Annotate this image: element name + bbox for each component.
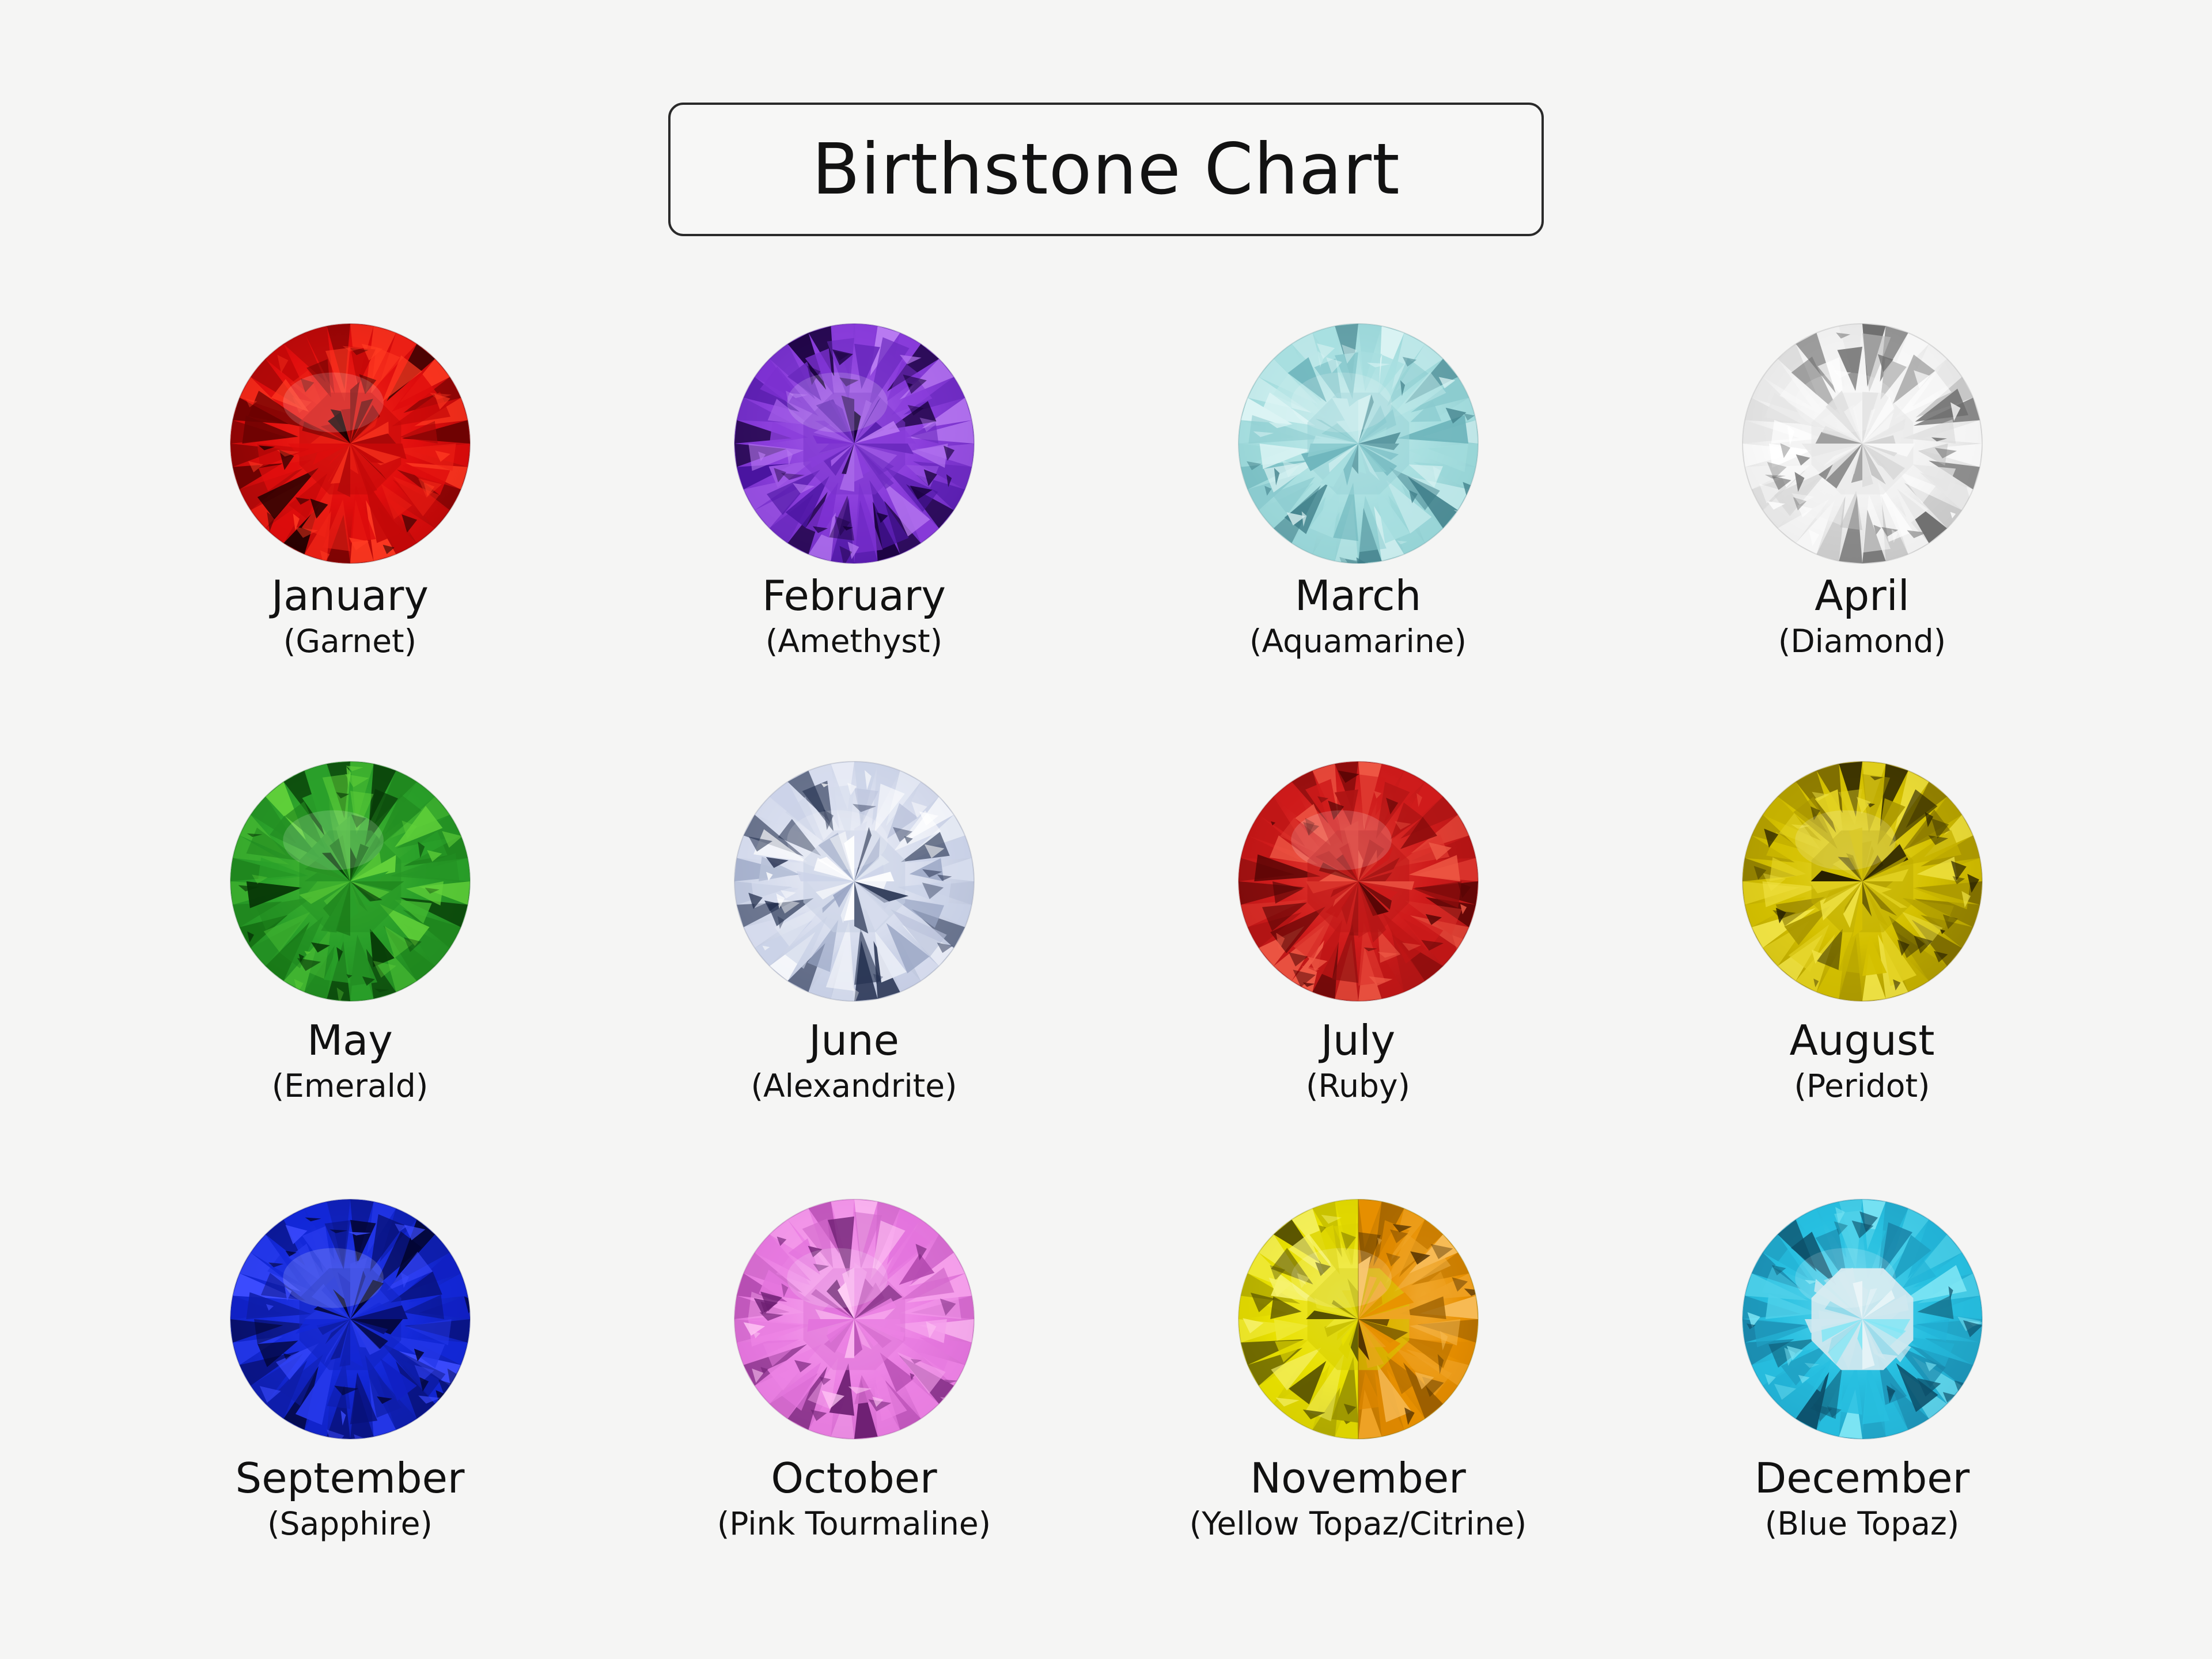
stone-label-yellow-topaz-citrine: (Yellow Topaz/Citrine) [1190, 1508, 1527, 1540]
gemstone-blue-topaz-icon [1741, 1198, 1983, 1440]
month-label-november: November [1250, 1457, 1466, 1499]
birthstone-grid: January(Garnet) February(Amethyst) March… [98, 323, 2114, 1636]
birthstone-cell-september[interactable]: September(Sapphire) [98, 1198, 602, 1636]
month-label-april: April [1815, 575, 1910, 617]
gemstone-amethyst-icon [733, 323, 975, 565]
gemstone-pink-tourmaline-icon [733, 1198, 975, 1440]
gemstone-ruby-icon [1237, 760, 1479, 1002]
month-label-september: September [236, 1457, 465, 1499]
title-box: Birthstone Chart [668, 103, 1544, 236]
birthstone-cell-june[interactable]: June(Alexandrite) [602, 760, 1106, 1198]
month-label-may: May [307, 1020, 393, 1062]
birthstone-cell-october[interactable]: October(Pink Tourmaline) [602, 1198, 1106, 1636]
stone-label-amethyst: (Amethyst) [766, 625, 942, 657]
month-label-october: October [771, 1457, 937, 1499]
birthstone-cell-july[interactable]: July(Ruby) [1106, 760, 1610, 1198]
month-label-july: July [1321, 1020, 1395, 1062]
gemstone-alexandrite-icon [733, 760, 975, 1002]
birthstone-cell-february[interactable]: February(Amethyst) [602, 323, 1106, 760]
gemstone-yellow-topaz-citrine-icon [1237, 1198, 1479, 1440]
stone-label-diamond: (Diamond) [1778, 625, 1946, 657]
month-label-january: January [271, 575, 429, 617]
month-label-march: March [1295, 575, 1421, 617]
birthstone-cell-april[interactable]: April(Diamond) [1610, 323, 2114, 760]
gemstone-garnet-icon [229, 323, 471, 565]
gemstone-aquamarine-icon [1237, 323, 1479, 565]
gemstone-peridot-icon [1741, 760, 1983, 1002]
birthstone-cell-november[interactable]: November(Yellow Topaz/Citrine) [1106, 1198, 1610, 1636]
month-label-june: June [809, 1020, 899, 1062]
gemstone-sapphire-icon [229, 1198, 471, 1440]
stone-label-aquamarine: (Aquamarine) [1249, 625, 1467, 657]
birthstone-cell-march[interactable]: March(Aquamarine) [1106, 323, 1610, 760]
stone-label-ruby: (Ruby) [1306, 1070, 1410, 1102]
month-label-august: August [1790, 1020, 1935, 1062]
stone-label-blue-topaz: (Blue Topaz) [1765, 1508, 1960, 1540]
birthstone-cell-may[interactable]: May(Emerald) [98, 760, 602, 1198]
stone-label-emerald: (Emerald) [272, 1070, 429, 1102]
stone-label-pink-tourmaline: (Pink Tourmaline) [717, 1508, 991, 1540]
stone-label-peridot: (Peridot) [1794, 1070, 1930, 1102]
month-label-december: December [1755, 1457, 1969, 1499]
month-label-february: February [762, 575, 946, 617]
birthstone-cell-august[interactable]: August(Peridot) [1610, 760, 2114, 1198]
stone-label-alexandrite: (Alexandrite) [751, 1070, 957, 1102]
stone-label-sapphire: (Sapphire) [267, 1508, 433, 1540]
gemstone-emerald-icon [229, 760, 471, 1002]
birthstone-cell-december[interactable]: December(Blue Topaz) [1610, 1198, 2114, 1636]
birthstone-cell-january[interactable]: January(Garnet) [98, 323, 602, 760]
page-title: Birthstone Chart [812, 134, 1400, 204]
title-container: Birthstone Chart [0, 103, 2212, 236]
stone-label-garnet: (Garnet) [283, 625, 416, 657]
gemstone-diamond-icon [1741, 323, 1983, 565]
